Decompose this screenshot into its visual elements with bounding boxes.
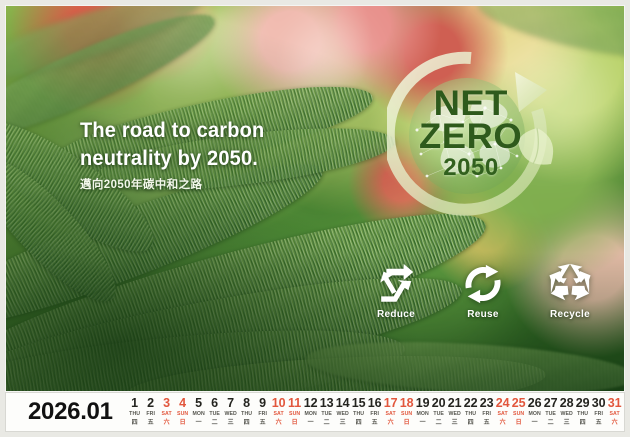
- day-weekday-en: MON: [528, 411, 540, 418]
- day-weekday-en: THU: [465, 411, 476, 418]
- day-weekday-cn: 一: [420, 419, 426, 427]
- day-weekday-en: FRI: [370, 411, 379, 418]
- calendar-day[interactable]: 27TUE二: [543, 397, 559, 428]
- headline-line-2: neutrality by 2050.: [80, 144, 359, 172]
- day-weekday-en: WED: [448, 411, 460, 418]
- day-number: 20: [432, 397, 446, 410]
- calendar-day[interactable]: 17SAT六: [383, 397, 399, 428]
- calendar-day[interactable]: 21WED三: [447, 397, 463, 428]
- day-weekday-en: THU: [577, 411, 588, 418]
- calendar-day[interactable]: 19MON一: [415, 397, 431, 428]
- calendar-day[interactable]: 3SAT六: [159, 397, 175, 428]
- headline-line-1: The road to carbon: [80, 116, 359, 144]
- day-weekday-cn: 六: [388, 419, 394, 427]
- day-number: 8: [243, 397, 250, 410]
- recycle-item: Recycle: [532, 262, 608, 320]
- day-weekday-en: SAT: [610, 411, 620, 418]
- day-weekday-en: MON: [304, 411, 316, 418]
- net-zero-badge: NET ZERO 2050: [387, 50, 555, 218]
- calendar-day[interactable]: 20TUE二: [431, 397, 447, 428]
- day-weekday-cn: 日: [180, 419, 186, 427]
- day-weekday-cn: 二: [436, 419, 442, 427]
- day-weekday-en: MON: [416, 411, 428, 418]
- day-weekday-en: WED: [224, 411, 236, 418]
- reduce-triangle-recycle-icon: [373, 262, 419, 306]
- day-number: 16: [368, 397, 382, 410]
- reuse-item: Reuse: [445, 262, 521, 320]
- calendar-day[interactable]: 31SAT六: [607, 397, 623, 428]
- calendar-day[interactable]: 18SUN日: [399, 397, 415, 428]
- day-weekday-cn: 五: [596, 419, 602, 427]
- day-weekday-cn: 一: [532, 419, 538, 427]
- globe-arrow-logo-icon: [387, 50, 555, 218]
- day-weekday-cn: 一: [308, 419, 314, 427]
- calendar-day[interactable]: 26MON一: [527, 397, 543, 428]
- day-weekday-en: WED: [336, 411, 348, 418]
- day-weekday-cn: 六: [276, 419, 282, 427]
- recycle-mobius-loop-icon: [547, 262, 593, 306]
- calendar-day[interactable]: 14WED三: [335, 397, 351, 428]
- day-weekday-cn: 六: [500, 419, 506, 427]
- day-weekday-cn: 四: [244, 419, 250, 427]
- day-number: 27: [544, 397, 558, 410]
- day-weekday-cn: 六: [164, 419, 170, 427]
- calendar-day[interactable]: 11SUN日: [287, 397, 303, 428]
- day-weekday-en: THU: [129, 411, 140, 418]
- calendar-day[interactable]: 15THU四: [351, 397, 367, 428]
- calendar-day[interactable]: 2FRI五: [143, 397, 159, 428]
- day-number: 11: [288, 397, 301, 410]
- calendar-day[interactable]: 8THU四: [239, 397, 255, 428]
- day-number: 31: [608, 397, 622, 410]
- day-weekday-en: SUN: [513, 411, 524, 418]
- calendar-day[interactable]: 24SAT六: [495, 397, 511, 428]
- calendar-day[interactable]: 1THU四: [127, 397, 143, 428]
- day-number: 19: [416, 397, 430, 410]
- day-number: 15: [352, 397, 366, 410]
- day-number: 1: [131, 397, 138, 410]
- day-number: 21: [448, 397, 462, 410]
- day-weekday-en: SAT: [162, 411, 172, 418]
- calendar-day[interactable]: 6TUE二: [207, 397, 223, 428]
- calendar-day[interactable]: 13TUE二: [319, 397, 335, 428]
- day-weekday-cn: 三: [340, 419, 346, 427]
- day-weekday-cn: 二: [548, 419, 554, 427]
- day-weekday-cn: 二: [212, 419, 218, 427]
- day-weekday-en: MON: [192, 411, 204, 418]
- calendar-poster: The road to carbon neutrality by 2050. 邁…: [0, 0, 630, 437]
- day-weekday-cn: 三: [228, 419, 234, 427]
- day-weekday-en: SAT: [498, 411, 508, 418]
- calendar-day[interactable]: 5MON一: [191, 397, 207, 428]
- day-number: 25: [512, 397, 526, 410]
- day-weekday-cn: 三: [452, 419, 458, 427]
- calendar-day[interactable]: 7WED三: [223, 397, 239, 428]
- day-weekday-cn: 四: [468, 419, 474, 427]
- calendar-day[interactable]: 25SUN日: [511, 397, 527, 428]
- day-weekday-en: FRI: [258, 411, 267, 418]
- days-row: 1THU四2FRI五3SAT六4SUN日5MON一6TUE二7WED三8THU四…: [127, 397, 630, 428]
- day-weekday-en: TUE: [321, 411, 332, 418]
- day-weekday-cn: 五: [484, 419, 490, 427]
- reuse-label: Reuse: [467, 309, 499, 320]
- background-photograph: The road to carbon neutrality by 2050. 邁…: [6, 6, 624, 391]
- headline-subtitle-chinese: 邁向2050年碳中和之路: [80, 176, 380, 192]
- day-weekday-en: SAT: [386, 411, 396, 418]
- day-number: 29: [576, 397, 590, 410]
- day-weekday-en: FRI: [594, 411, 603, 418]
- calendar-day[interactable]: 30FRI五: [591, 397, 607, 428]
- day-number: 24: [496, 397, 510, 410]
- day-weekday-cn: 日: [292, 419, 298, 427]
- recycle-label: Recycle: [550, 309, 590, 320]
- day-number: 18: [400, 397, 414, 410]
- calendar-day[interactable]: 12MON一: [303, 397, 319, 428]
- day-weekday-cn: 日: [516, 419, 522, 427]
- calendar-day[interactable]: 23FRI五: [479, 397, 495, 428]
- day-weekday-cn: 一: [196, 419, 202, 427]
- day-weekday-cn: 日: [404, 419, 410, 427]
- day-weekday-cn: 六: [612, 419, 618, 427]
- day-weekday-en: SUN: [177, 411, 188, 418]
- day-number: 26: [528, 397, 542, 410]
- calendar-day[interactable]: 9FRI五: [255, 397, 271, 428]
- day-weekday-cn: 二: [324, 419, 330, 427]
- day-weekday-en: TUE: [433, 411, 444, 418]
- day-weekday-en: THU: [241, 411, 252, 418]
- day-number: 22: [464, 397, 478, 410]
- day-number: 3: [163, 397, 170, 410]
- calendar-day[interactable]: 22THU四: [463, 397, 479, 428]
- day-number: 9: [259, 397, 266, 410]
- day-weekday-cn: 五: [372, 419, 378, 427]
- day-number: 30: [592, 397, 606, 410]
- calendar-day[interactable]: 4SUN日: [175, 397, 191, 428]
- day-number: 14: [336, 397, 350, 410]
- day-weekday-en: WED: [560, 411, 572, 418]
- day-weekday-en: SUN: [289, 411, 300, 418]
- day-weekday-en: FRI: [146, 411, 155, 418]
- day-number: 28: [560, 397, 574, 410]
- day-weekday-cn: 四: [132, 419, 138, 427]
- headline-block: The road to carbon neutrality by 2050. 邁…: [80, 116, 380, 192]
- day-number: 6: [211, 397, 218, 410]
- year-month-label: 2026.01: [28, 398, 113, 426]
- day-number: 10: [272, 397, 286, 410]
- day-weekday-cn: 四: [356, 419, 362, 427]
- day-number: 23: [480, 397, 494, 410]
- day-weekday-cn: 五: [148, 419, 154, 427]
- day-number: 7: [227, 397, 234, 410]
- day-number: 5: [195, 397, 202, 410]
- reduce-item: Reduce: [358, 262, 434, 320]
- three-r-group: Reduce Reuse: [358, 262, 608, 332]
- day-weekday-en: FRI: [482, 411, 491, 418]
- day-number: 2: [147, 397, 154, 410]
- reuse-circular-arrows-icon: [460, 262, 506, 306]
- day-weekday-en: THU: [353, 411, 364, 418]
- calendar-day[interactable]: 28WED三: [559, 397, 575, 428]
- day-weekday-en: TUE: [545, 411, 556, 418]
- reduce-label: Reduce: [377, 309, 415, 320]
- day-number: 4: [179, 397, 186, 410]
- calendar-strip: 2026.01 1THU四2FRI五3SAT六4SUN日5MON一6TUE二7W…: [6, 393, 624, 431]
- day-number: 12: [304, 397, 318, 410]
- calendar-day[interactable]: 29THU四: [575, 397, 591, 428]
- day-weekday-en: SAT: [274, 411, 284, 418]
- day-weekday-en: SUN: [401, 411, 412, 418]
- day-number: 13: [320, 397, 334, 410]
- calendar-day[interactable]: 16FRI五: [367, 397, 383, 428]
- day-number: 17: [384, 397, 398, 410]
- day-weekday-en: TUE: [209, 411, 220, 418]
- calendar-day[interactable]: 10SAT六: [271, 397, 287, 428]
- day-weekday-cn: 三: [564, 419, 570, 427]
- day-weekday-cn: 五: [260, 419, 266, 427]
- day-weekday-cn: 四: [580, 419, 586, 427]
